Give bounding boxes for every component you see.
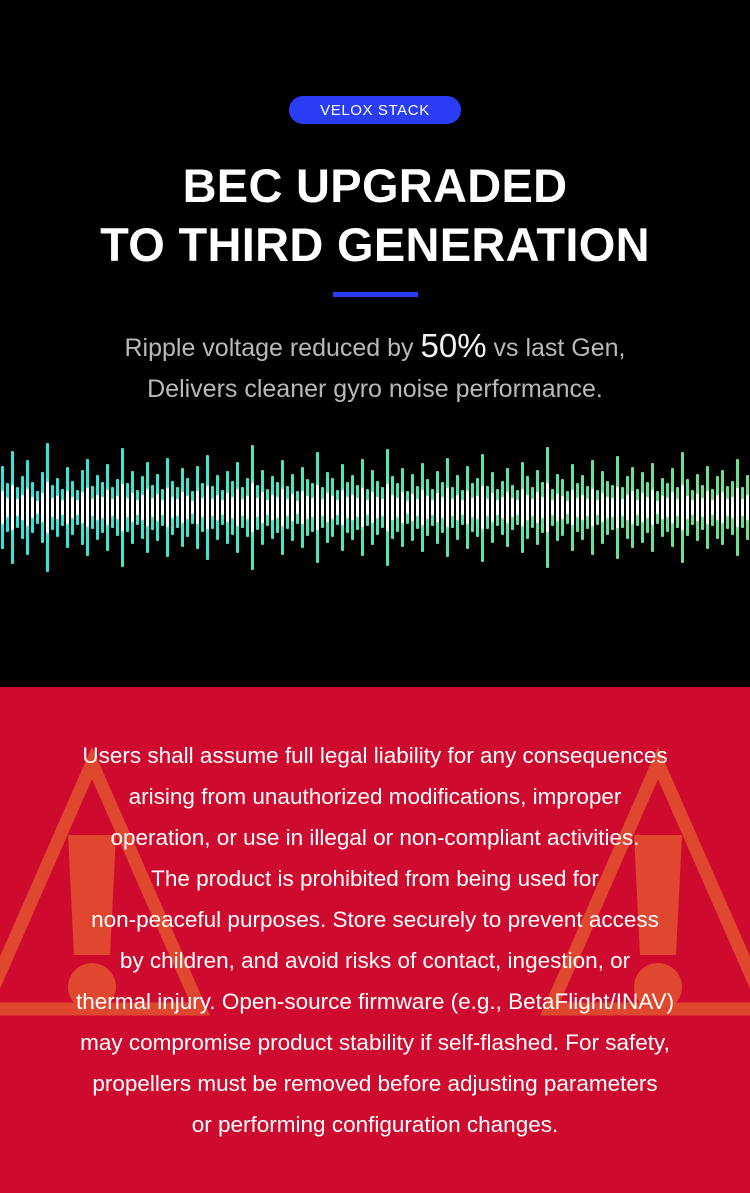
waveform-bar-core	[71, 497, 73, 519]
waveform-bar-core	[561, 496, 563, 519]
waveform-bar-core	[471, 498, 473, 517]
waveform-bar-core	[586, 499, 588, 516]
waveform-bar-core	[256, 498, 258, 516]
waveform-bar-core	[706, 491, 708, 524]
waveform-bar-core	[226, 493, 228, 522]
waveform-bar-core	[26, 489, 28, 527]
waveform-bar-core	[351, 495, 353, 521]
waveform-bar-core	[191, 501, 193, 514]
waveform-bar-core	[721, 492, 723, 522]
waveform-bar-core	[466, 491, 468, 524]
waveform-bar-core	[621, 499, 623, 515]
waveform-bar-core	[166, 488, 168, 528]
waveform-bar-core	[196, 491, 198, 524]
waveform-bar-core	[21, 495, 23, 520]
waveform-bar-core	[241, 499, 243, 515]
headline-line-2: TO THIRD GENERATION	[100, 215, 650, 274]
warning-line-5: non-peaceful purposes. Store securely to…	[91, 899, 659, 940]
waveform-bar-core	[121, 484, 123, 532]
waveform-bar-core	[496, 500, 498, 515]
waveform-bar-core	[46, 482, 48, 534]
waveform-bar-core	[11, 485, 13, 530]
waveform-bar-core	[56, 496, 58, 520]
waveform-bar-core	[291, 494, 293, 521]
waveform-bar-core	[376, 497, 378, 519]
waveform-bar-core	[536, 492, 538, 522]
waveform-bar-core	[246, 496, 248, 520]
waveform-bar-core	[301, 491, 303, 523]
waveform-bar-core	[641, 493, 643, 521]
waveform-bar-core	[711, 500, 713, 515]
waveform-bar-core	[681, 485, 683, 529]
waveform-bar-core	[176, 499, 178, 515]
waveform-bar-core	[436, 493, 438, 522]
waveform-bar-core	[616, 487, 618, 528]
waveform-bar-core	[611, 498, 613, 516]
waveform-bar-core	[731, 497, 733, 519]
waveform-bar-core	[161, 500, 163, 515]
warning-line-7: thermal injury. Open-source firmware (e.…	[76, 981, 674, 1022]
waveform-bar-core	[306, 496, 308, 519]
waveform-bar-core	[341, 490, 343, 525]
warning-line-4: The product is prohibited from being use…	[151, 858, 599, 899]
waveform-bar-core	[346, 497, 348, 518]
waveform-bar-core	[691, 500, 693, 514]
waveform-bar-core	[411, 494, 413, 521]
waveform-bar-core	[526, 495, 528, 520]
waveform-bar-core	[391, 495, 393, 520]
waveform-bar-core	[331, 496, 333, 520]
waveform-bar-core	[111, 499, 113, 515]
waveform-bar-core	[381, 499, 383, 515]
waveform-bar-core	[271, 495, 273, 520]
waveform-bar-core	[251, 483, 253, 533]
hero-subtitle: Ripple voltage reduced by 50% vs last Ge…	[124, 321, 625, 408]
warning-line-2: arising from unauthorized modifications,…	[129, 776, 622, 817]
waveform-bar-core	[461, 500, 463, 514]
waveform-bar-core	[386, 484, 388, 530]
waveform-bar-core	[591, 489, 593, 527]
waveform-bar-core	[636, 500, 638, 515]
waveform-bar-core	[261, 492, 263, 522]
subtitle-text-after: vs last Gen,	[487, 334, 626, 362]
waveform-bar-core	[366, 500, 368, 515]
waveform-bar-core	[501, 497, 503, 519]
waveform-bar-core	[126, 498, 128, 517]
waveform-bar-core	[221, 500, 223, 514]
waveform-bar-core	[716, 495, 718, 520]
waveform-bar-core	[116, 496, 118, 519]
waveform-bar-core	[671, 492, 673, 523]
waveform-bar-core	[491, 493, 493, 521]
waveform-bar-core	[566, 501, 568, 514]
waveform-bar-core	[361, 488, 363, 527]
waveform-bar-core	[96, 495, 98, 521]
warning-line-10: or performing configuration changes.	[192, 1104, 558, 1145]
waveform-bar-core	[231, 497, 233, 519]
waveform-bar-core	[676, 499, 678, 515]
waveform-bar-core	[571, 490, 573, 525]
title-divider	[333, 292, 418, 297]
waveform-bar-core	[216, 495, 218, 521]
waveform-bar-core	[606, 497, 608, 519]
waveform-bar-core	[296, 501, 298, 514]
warning-line-1: Users shall assume full legal liability …	[82, 735, 667, 776]
waveform-bar-core	[421, 490, 423, 526]
waveform-bar-core	[696, 494, 698, 521]
waveform-bar-core	[396, 498, 398, 517]
waveform-bar-core	[556, 494, 558, 521]
subtitle-text-before: Ripple voltage reduced by	[124, 334, 420, 362]
waveform-bar-core	[666, 498, 668, 517]
waveform-bar-core	[316, 485, 318, 529]
waveform-bar-core	[131, 493, 133, 522]
waveform-bar-core	[136, 500, 138, 514]
warning-text-block: Users shall assume full legal liability …	[0, 687, 750, 1193]
waveform-visual	[0, 440, 750, 575]
waveform-bar-core	[506, 492, 508, 523]
waveform-bar-core	[601, 493, 603, 522]
waveform-bar-core	[51, 498, 53, 516]
waveform-bar-core	[106, 490, 108, 525]
waveform-bar-core	[656, 501, 658, 514]
waveform-bar-core	[661, 496, 663, 520]
waveform-bar-core	[406, 501, 408, 514]
headline-line-1: BEC UPGRADED	[100, 156, 650, 215]
waveform-bar-core	[521, 489, 523, 526]
waveform-bar-core	[596, 500, 598, 514]
waveform-bar-core	[551, 500, 553, 515]
subtitle-line-1: Ripple voltage reduced by 50% vs last Ge…	[124, 321, 625, 371]
waveform-bar-core	[356, 498, 358, 516]
waveform-bar-core	[541, 497, 543, 518]
waveform-bar-core	[441, 497, 443, 518]
waveform-bar-core	[311, 498, 313, 517]
waveform-bar-core	[456, 495, 458, 521]
waveform-bar-core	[516, 500, 518, 514]
waveform-bar-core	[426, 496, 428, 519]
waveform-bar-core	[451, 499, 453, 515]
waveform-bar-core	[631, 491, 633, 523]
waveform-bar-core	[171, 497, 173, 519]
waveform-bar-core	[281, 489, 283, 527]
waveform-bar-core	[206, 486, 208, 528]
waveform-bar-core	[701, 498, 703, 516]
waveform-bar-core	[266, 500, 268, 515]
waveform-bar-core	[531, 499, 533, 515]
waveform-bar-core	[371, 492, 373, 522]
waveform-bar-core	[741, 499, 743, 515]
waveform-bar-core	[6, 498, 8, 517]
hero-section: VELOX STACK BEC UPGRADED TO THIRD GENERA…	[0, 0, 750, 687]
waveform-bar-core	[101, 497, 103, 518]
waveform-bar-core	[201, 498, 203, 517]
waveform-bar-core	[66, 491, 68, 523]
subtitle-highlight-50pct: 50%	[421, 327, 487, 364]
waveform-bar-core	[81, 492, 83, 522]
waveform-bar-core	[326, 493, 328, 521]
waveform-bar-core	[91, 499, 93, 516]
waveform-bar-core	[31, 497, 33, 518]
waveform-bar-core	[1, 491, 3, 524]
waveform-bar-core	[486, 499, 488, 516]
warning-section: Users shall assume full legal liability …	[0, 687, 750, 1193]
waveform-bar-core	[151, 498, 153, 516]
waveform-bar-core	[321, 499, 323, 515]
waveform-bar-core	[86, 488, 88, 527]
waveform-bar-core	[416, 499, 418, 516]
warning-line-9: propellers must be removed before adjust…	[92, 1063, 657, 1104]
waveform-bar-core	[286, 499, 288, 516]
waveform-bar-core	[646, 497, 648, 518]
waveform-bar-core	[146, 489, 148, 526]
waveform-bar-core	[651, 490, 653, 526]
waveform-bar-core	[186, 496, 188, 520]
waveform-bar-core	[511, 498, 513, 516]
subtitle-line-2: Delivers cleaner gyro noise performance.	[124, 371, 625, 409]
waveform-bar-core	[726, 499, 728, 516]
waveform-bar-core	[446, 488, 448, 528]
waveform-bar-core	[736, 488, 738, 527]
waveform-bar-core	[546, 483, 548, 532]
waveform-bar-core	[181, 492, 183, 523]
warning-line-3: operation, or use in illegal or non-comp…	[110, 817, 639, 858]
waveform-bar-core	[141, 495, 143, 520]
waveform-bar-core	[211, 499, 213, 516]
waveform-bar-core	[626, 495, 628, 520]
waveform-bar-core	[581, 495, 583, 521]
waveform-bar-core	[156, 494, 158, 521]
waveform-bar-core	[576, 498, 578, 517]
waveform-bar-core	[61, 500, 63, 515]
waveform-bar-core	[276, 497, 278, 518]
waveform-bar-core	[401, 492, 403, 523]
velox-stack-badge: VELOX STACK	[289, 96, 461, 124]
waveform-bar-core	[746, 495, 748, 521]
product-infographic-page: VELOX STACK BEC UPGRADED TO THIRD GENERA…	[0, 0, 750, 1193]
warning-line-8: may compromise product stability if self…	[80, 1022, 670, 1063]
waveform-bar-core	[476, 496, 478, 520]
waveform-bars	[0, 440, 750, 575]
waveform-bar-core	[36, 501, 38, 514]
page-title: BEC UPGRADED TO THIRD GENERATION	[100, 156, 650, 274]
waveform-bar-core	[16, 499, 18, 515]
waveform-bar-core	[336, 500, 338, 514]
warning-line-6: by children, and avoid risks of contact,…	[120, 940, 630, 981]
waveform-bar-core	[481, 486, 483, 529]
waveform-bar-core	[431, 500, 433, 515]
waveform-bar-core	[236, 489, 238, 526]
waveform-bar-core	[76, 500, 78, 514]
waveform-bar-core	[686, 496, 688, 519]
waveform-bar-core	[41, 493, 43, 521]
